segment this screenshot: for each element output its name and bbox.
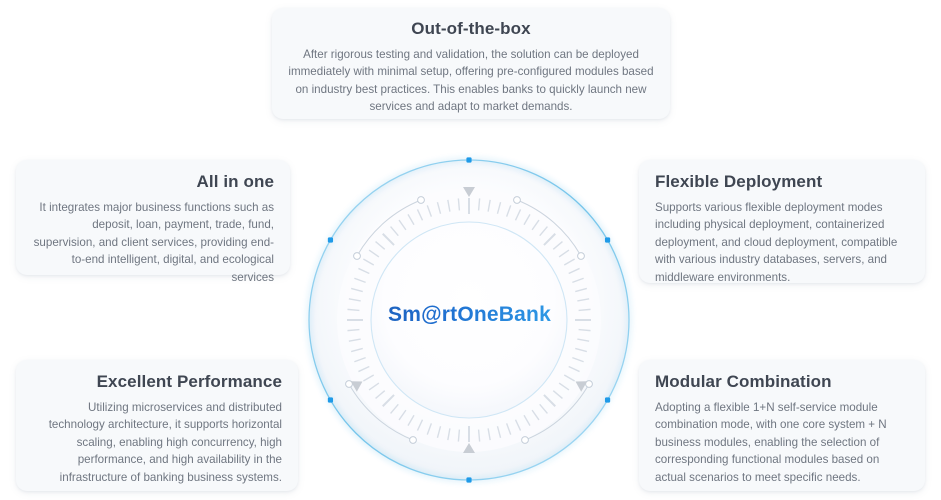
feature-card-title: Flexible Deployment: [655, 172, 909, 192]
arc-endpoint-dot: [522, 437, 529, 444]
central-circular-graphic: Sm@rtOneBank: [297, 148, 642, 500]
feature-card-out-of-the-box[interactable]: Out-of-the-box After rigorous testing an…: [272, 8, 670, 119]
accent-dot: [605, 397, 610, 402]
feature-card-body: Adopting a flexible 1+N self-service mod…: [655, 399, 909, 486]
feature-card-excellent-performance[interactable]: Excellent Performance Utilizing microser…: [16, 360, 298, 491]
arc-endpoint-dot: [418, 197, 425, 204]
feature-card-body: After rigorous testing and validation, t…: [288, 46, 654, 116]
infographic-stage: Out-of-the-box After rigorous testing an…: [0, 0, 941, 500]
feature-card-body: Utilizing microservices and distributed …: [32, 399, 282, 486]
accent-dot: [328, 237, 333, 242]
feature-card-body: Supports various flexible deployment mod…: [655, 199, 909, 286]
accent-dot: [605, 237, 610, 242]
feature-card-title: Excellent Performance: [32, 372, 282, 392]
feature-card-body: It integrates major business functions s…: [32, 199, 274, 286]
arc-endpoint-dot: [354, 253, 361, 260]
arc-endpoint-dot: [410, 437, 417, 444]
feature-card-title: All in one: [32, 172, 274, 192]
feature-card-all-in-one[interactable]: All in one It integrates major business …: [16, 160, 290, 275]
feature-card-title: Modular Combination: [655, 372, 909, 392]
accent-dot: [328, 397, 333, 402]
arc-endpoint-dot: [514, 197, 521, 204]
arc-endpoint-dot: [578, 253, 585, 260]
brand-title: Sm@rtOneBank: [297, 303, 642, 327]
accent-dot: [466, 157, 471, 162]
feature-card-flexible-deployment[interactable]: Flexible Deployment Supports various fle…: [639, 160, 925, 283]
accent-dot: [466, 477, 471, 482]
feature-card-title: Out-of-the-box: [288, 19, 654, 39]
feature-card-modular-combination[interactable]: Modular Combination Adopting a flexible …: [639, 360, 925, 491]
